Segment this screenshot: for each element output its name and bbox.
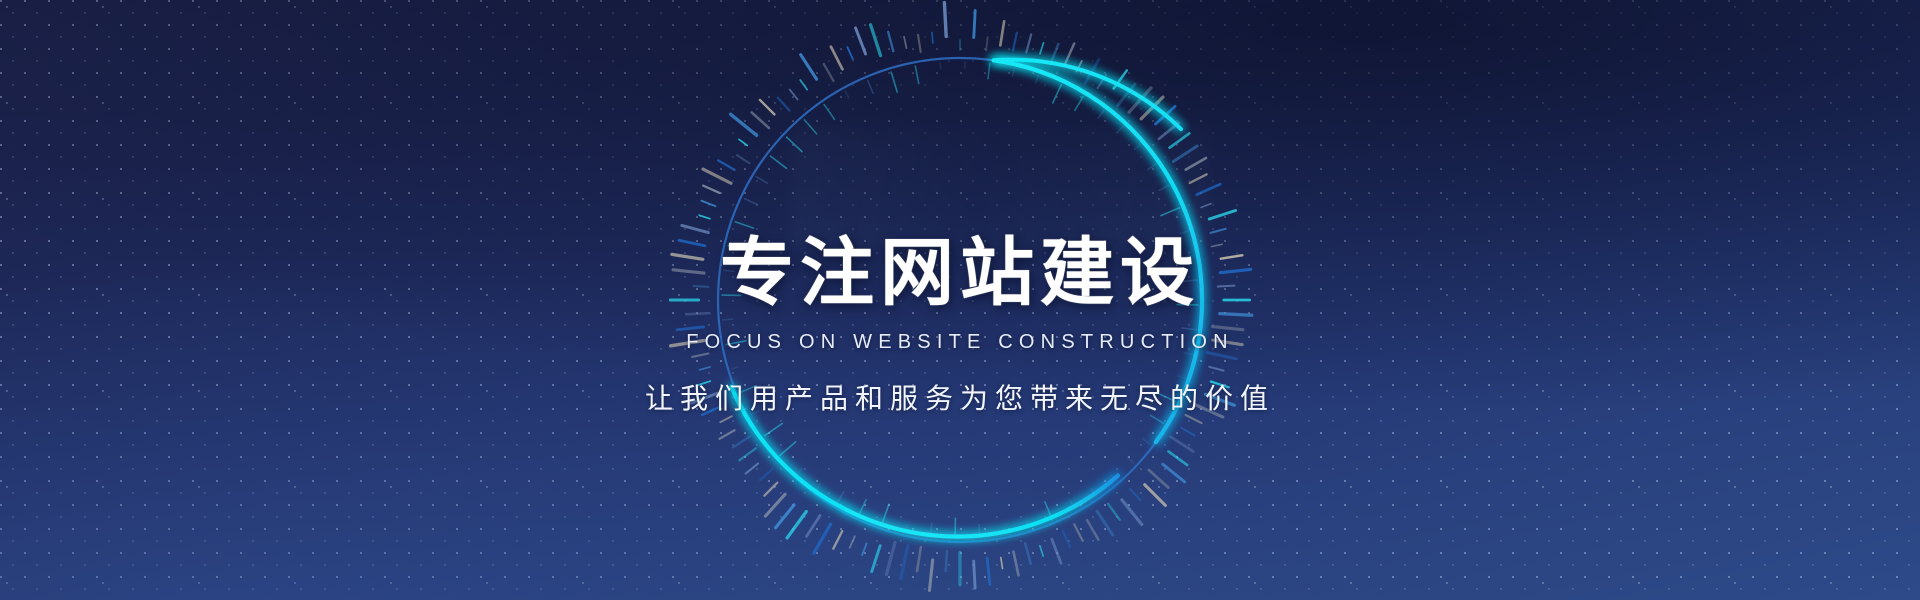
banner-subheadline-english: FOCUS ON WEBSITE CONSTRUCTION bbox=[0, 330, 1920, 354]
hero-banner: 专注网站建设 FOCUS ON WEBSITE CONSTRUCTION 让我们… bbox=[0, 0, 1920, 600]
banner-tagline: 让我们用产品和服务为您带来无尽的价值 bbox=[0, 382, 1920, 416]
banner-text-block: 专注网站建设 FOCUS ON WEBSITE CONSTRUCTION 让我们… bbox=[0, 0, 1920, 600]
banner-headline: 专注网站建设 bbox=[0, 232, 1920, 314]
